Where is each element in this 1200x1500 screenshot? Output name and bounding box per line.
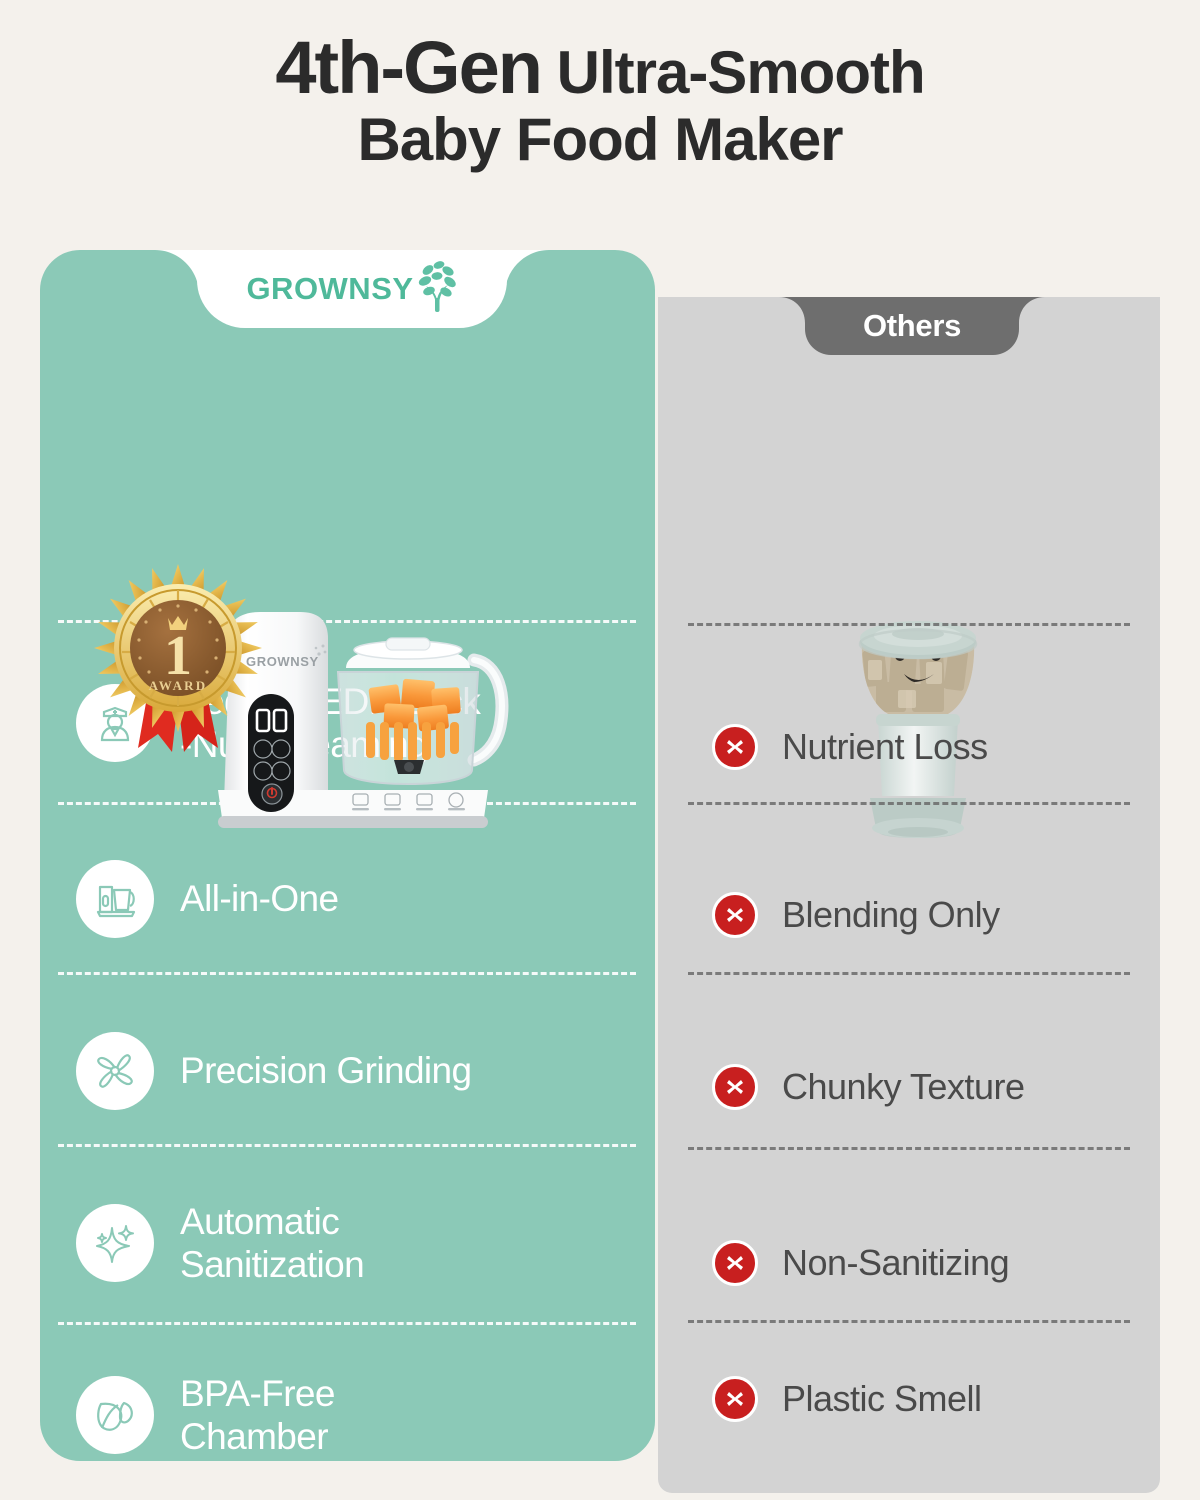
others-item-label: Blending Only [782, 894, 1000, 936]
feature-label: Automatic Sanitization [180, 1200, 364, 1287]
others-item-4: Plastic Smell [712, 1376, 1142, 1422]
cross-icon [712, 724, 758, 770]
page-title-line2: Baby Food Maker [0, 108, 1200, 173]
logo-tab-left-shoulder [155, 250, 199, 294]
title-highlight: 4th-Gen [275, 26, 541, 109]
others-divider-1 [688, 802, 1130, 805]
cross-icon [712, 892, 758, 938]
title-subtext: Ultra-Smooth [541, 39, 925, 106]
leaf-icon [76, 1376, 154, 1454]
others-divider-3 [688, 1147, 1130, 1150]
cross-icon [712, 1064, 758, 1110]
feature-divider-4 [58, 1322, 636, 1325]
cross-icon [712, 1376, 758, 1422]
feature-divider-3 [58, 1144, 636, 1147]
others-item-label: Nutrient Loss [782, 726, 988, 768]
others-tab: Others [805, 297, 1019, 355]
feature-label: BPA-Free Chamber [180, 1372, 335, 1459]
feature-label: All-in-One [180, 877, 339, 920]
others-divider-2 [688, 972, 1130, 975]
others-item-label: Chunky Texture [782, 1066, 1024, 1108]
others-item-2: Chunky Texture [712, 1064, 1142, 1110]
brand-logo: GROWNSY [197, 250, 507, 328]
sparkle-icon [76, 1204, 154, 1282]
feature-row-2: Precision Grinding [76, 1032, 636, 1110]
brand-logo-text: GROWNSY [246, 271, 413, 307]
others-item-label: Plastic Smell [782, 1378, 982, 1420]
appliance-icon [76, 860, 154, 938]
award-badge: 1 AWARD [92, 562, 264, 757]
others-tab-right-shoulder [1019, 297, 1045, 323]
others-item-label: Non-Sanitizing [782, 1242, 1009, 1284]
feature-divider-2 [58, 972, 636, 975]
cross-icon [712, 1240, 758, 1286]
feature-row-4: BPA-Free Chamber [76, 1372, 636, 1459]
award-label: AWARD [149, 678, 208, 693]
others-tab-left-shoulder [779, 297, 805, 323]
page-title: 4th-Gen Ultra-Smooth [0, 28, 1200, 108]
page-header: 4th-Gen Ultra-Smooth Baby Food Maker [0, 0, 1200, 173]
others-item-0: Nutrient Loss [712, 724, 1142, 770]
others-divider-4 [688, 1320, 1130, 1323]
logo-tab-right-shoulder [505, 250, 549, 294]
feature-row-1: All-in-One [76, 860, 636, 938]
title-line2-text: Baby Food Maker [357, 106, 842, 173]
feature-label: Precision Grinding [180, 1049, 472, 1092]
others-item-1: Blending Only [712, 892, 1142, 938]
comparison-stage: Others [0, 232, 1200, 1500]
others-item-3: Non-Sanitizing [712, 1240, 1142, 1286]
feature-row-3: Automatic Sanitization [76, 1200, 636, 1287]
others-divider-0 [688, 623, 1130, 626]
tree-icon [412, 260, 458, 312]
blade-icon [76, 1032, 154, 1110]
others-tab-label: Others [863, 308, 961, 344]
